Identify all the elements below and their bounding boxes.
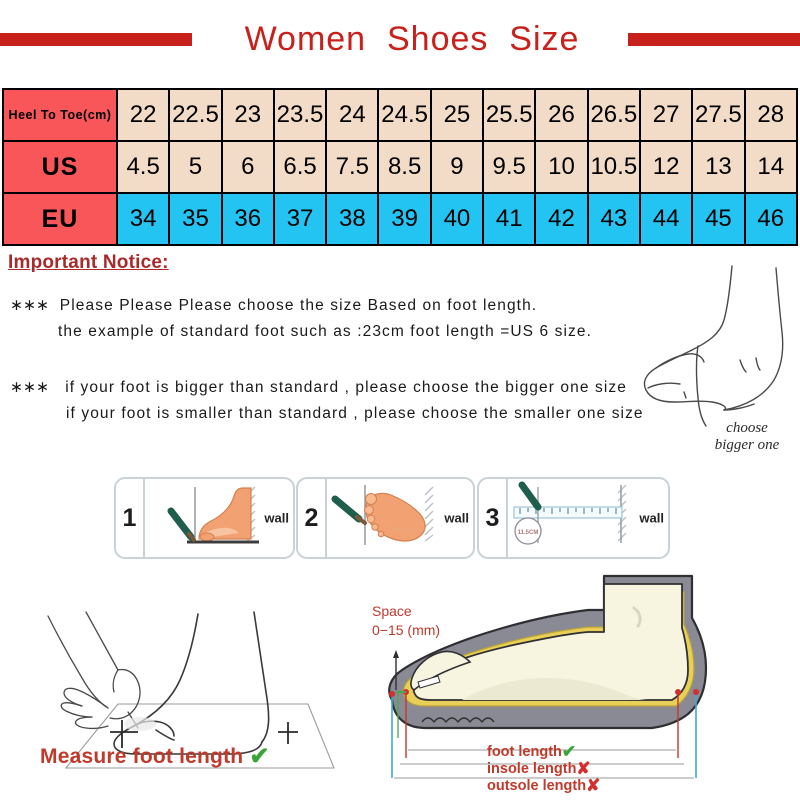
- cell-cm-8: 26: [535, 89, 587, 141]
- row-label-us: US: [3, 141, 117, 193]
- cross-icon: ✘: [586, 776, 600, 795]
- label-insole-length-text: insole length: [487, 761, 576, 777]
- cell-us-6: 9: [431, 141, 483, 193]
- title-rule-left: [0, 33, 192, 46]
- cell-us-8: 10: [535, 141, 587, 193]
- step-number-3: 3: [479, 479, 508, 557]
- cell-eu-6: 40: [431, 193, 483, 245]
- measure-foot-length-caption: Measure foot length ✔: [40, 742, 270, 771]
- title-rule-right: [628, 33, 800, 46]
- cell-eu-1: 35: [169, 193, 221, 245]
- cell-cm-5: 24.5: [378, 89, 430, 141]
- cell-cm-0: 22: [117, 89, 169, 141]
- cell-eu-7: 41: [483, 193, 535, 245]
- cell-us-2: 6: [222, 141, 274, 193]
- measure-caption-text: Measure foot length: [40, 745, 243, 768]
- page-title-band: Women Shoes Size: [0, 18, 800, 62]
- cell-us-9: 10.5: [588, 141, 640, 193]
- wall-label-3: wall: [639, 511, 664, 526]
- cell-us-1: 5: [169, 141, 221, 193]
- cell-eu-11: 45: [692, 193, 744, 245]
- row-label-heel-to-toe: Heel To Toe(cm): [3, 89, 117, 141]
- cell-us-12: 14: [745, 141, 797, 193]
- table-row: US 4.5 5 6 6.5 7.5 8.5 9 9.5 10 10.5 12 …: [3, 141, 797, 193]
- notice-text-2a: if your foot is bigger than standard , p…: [65, 379, 627, 396]
- cell-eu-9: 43: [588, 193, 640, 245]
- size-chart-table: Heel To Toe(cm) 22 22.5 23 23.5 24 24.5 …: [2, 88, 798, 246]
- cell-cm-9: 26.5: [588, 89, 640, 141]
- label-foot-length-text: foot length: [487, 744, 562, 760]
- cell-us-7: 9.5: [483, 141, 535, 193]
- notice-block-2: ∗∗∗ if your foot is bigger than standard…: [10, 375, 644, 427]
- notice-text-1a: Please Please Please choose the size Bas…: [60, 297, 537, 314]
- step-box-3: 3 11.5CM wall: [477, 477, 670, 559]
- cell-cm-1: 22.5: [169, 89, 221, 141]
- cell-eu-5: 39: [378, 193, 430, 245]
- cell-us-3: 6.5: [274, 141, 326, 193]
- space-label: Space 0−15 (mm): [372, 602, 440, 640]
- cell-cm-4: 24: [326, 89, 378, 141]
- row-label-eu: EU: [3, 193, 117, 245]
- step-box-1: 1 wall: [114, 477, 295, 559]
- label-outsole-length: outsole length✘: [487, 776, 600, 796]
- cell-us-4: 7.5: [326, 141, 378, 193]
- cell-eu-12: 46: [745, 193, 797, 245]
- notice-line-1b: the example of standard foot such as :23…: [10, 319, 592, 345]
- notice-stars: ∗∗∗: [10, 297, 49, 314]
- page-title: Women Shoes Size: [192, 18, 632, 60]
- step-number-2: 2: [298, 479, 327, 557]
- notice-line-2b: if your foot is smaller than standard , …: [10, 401, 644, 427]
- cell-eu-0: 34: [117, 193, 169, 245]
- label-outsole-length-text: outsole length: [487, 778, 586, 794]
- notice-heading: Important Notice:: [8, 252, 169, 274]
- cell-cm-10: 27: [640, 89, 692, 141]
- cell-us-11: 13: [692, 141, 744, 193]
- cell-cm-6: 25: [431, 89, 483, 141]
- notice-block-1: ∗∗∗ Please Please Please choose the size…: [10, 293, 592, 345]
- table-row: EU 34 35 36 37 38 39 40 41 42 43 44 45 4…: [3, 193, 797, 245]
- step-2-illustration: wall: [325, 479, 473, 557]
- cell-us-5: 8.5: [378, 141, 430, 193]
- cell-eu-3: 37: [274, 193, 326, 245]
- cell-cm-12: 28: [745, 89, 797, 141]
- cell-cm-7: 25.5: [483, 89, 535, 141]
- cell-eu-4: 38: [326, 193, 378, 245]
- check-icon: ✔: [249, 743, 269, 770]
- notice-line-2a: ∗∗∗ if your foot is bigger than standard…: [10, 375, 644, 401]
- step-1-illustration: wall: [143, 479, 293, 557]
- cell-cm-3: 23.5: [274, 89, 326, 141]
- notice-stars: ∗∗∗: [10, 379, 49, 396]
- choose-bigger-one-caption: choose bigger one: [694, 420, 800, 454]
- step-number-1: 1: [116, 479, 145, 557]
- cell-eu-10: 44: [640, 193, 692, 245]
- cell-us-0: 4.5: [117, 141, 169, 193]
- cell-cm-2: 23: [222, 89, 274, 141]
- notice-line-1a: ∗∗∗ Please Please Please choose the size…: [10, 293, 592, 319]
- cell-us-10: 12: [640, 141, 692, 193]
- ruler-badge-text: 11.5CM: [518, 530, 539, 536]
- step-3-illustration: 11.5CM wall: [506, 479, 668, 557]
- wall-label-1: wall: [264, 511, 289, 526]
- cell-eu-8: 42: [535, 193, 587, 245]
- table-row: Heel To Toe(cm) 22 22.5 23 23.5 24 24.5 …: [3, 89, 797, 141]
- cell-cm-11: 27.5: [692, 89, 744, 141]
- wall-label-2: wall: [444, 511, 469, 526]
- step-box-2: 2 wall: [296, 477, 475, 559]
- cell-eu-2: 36: [222, 193, 274, 245]
